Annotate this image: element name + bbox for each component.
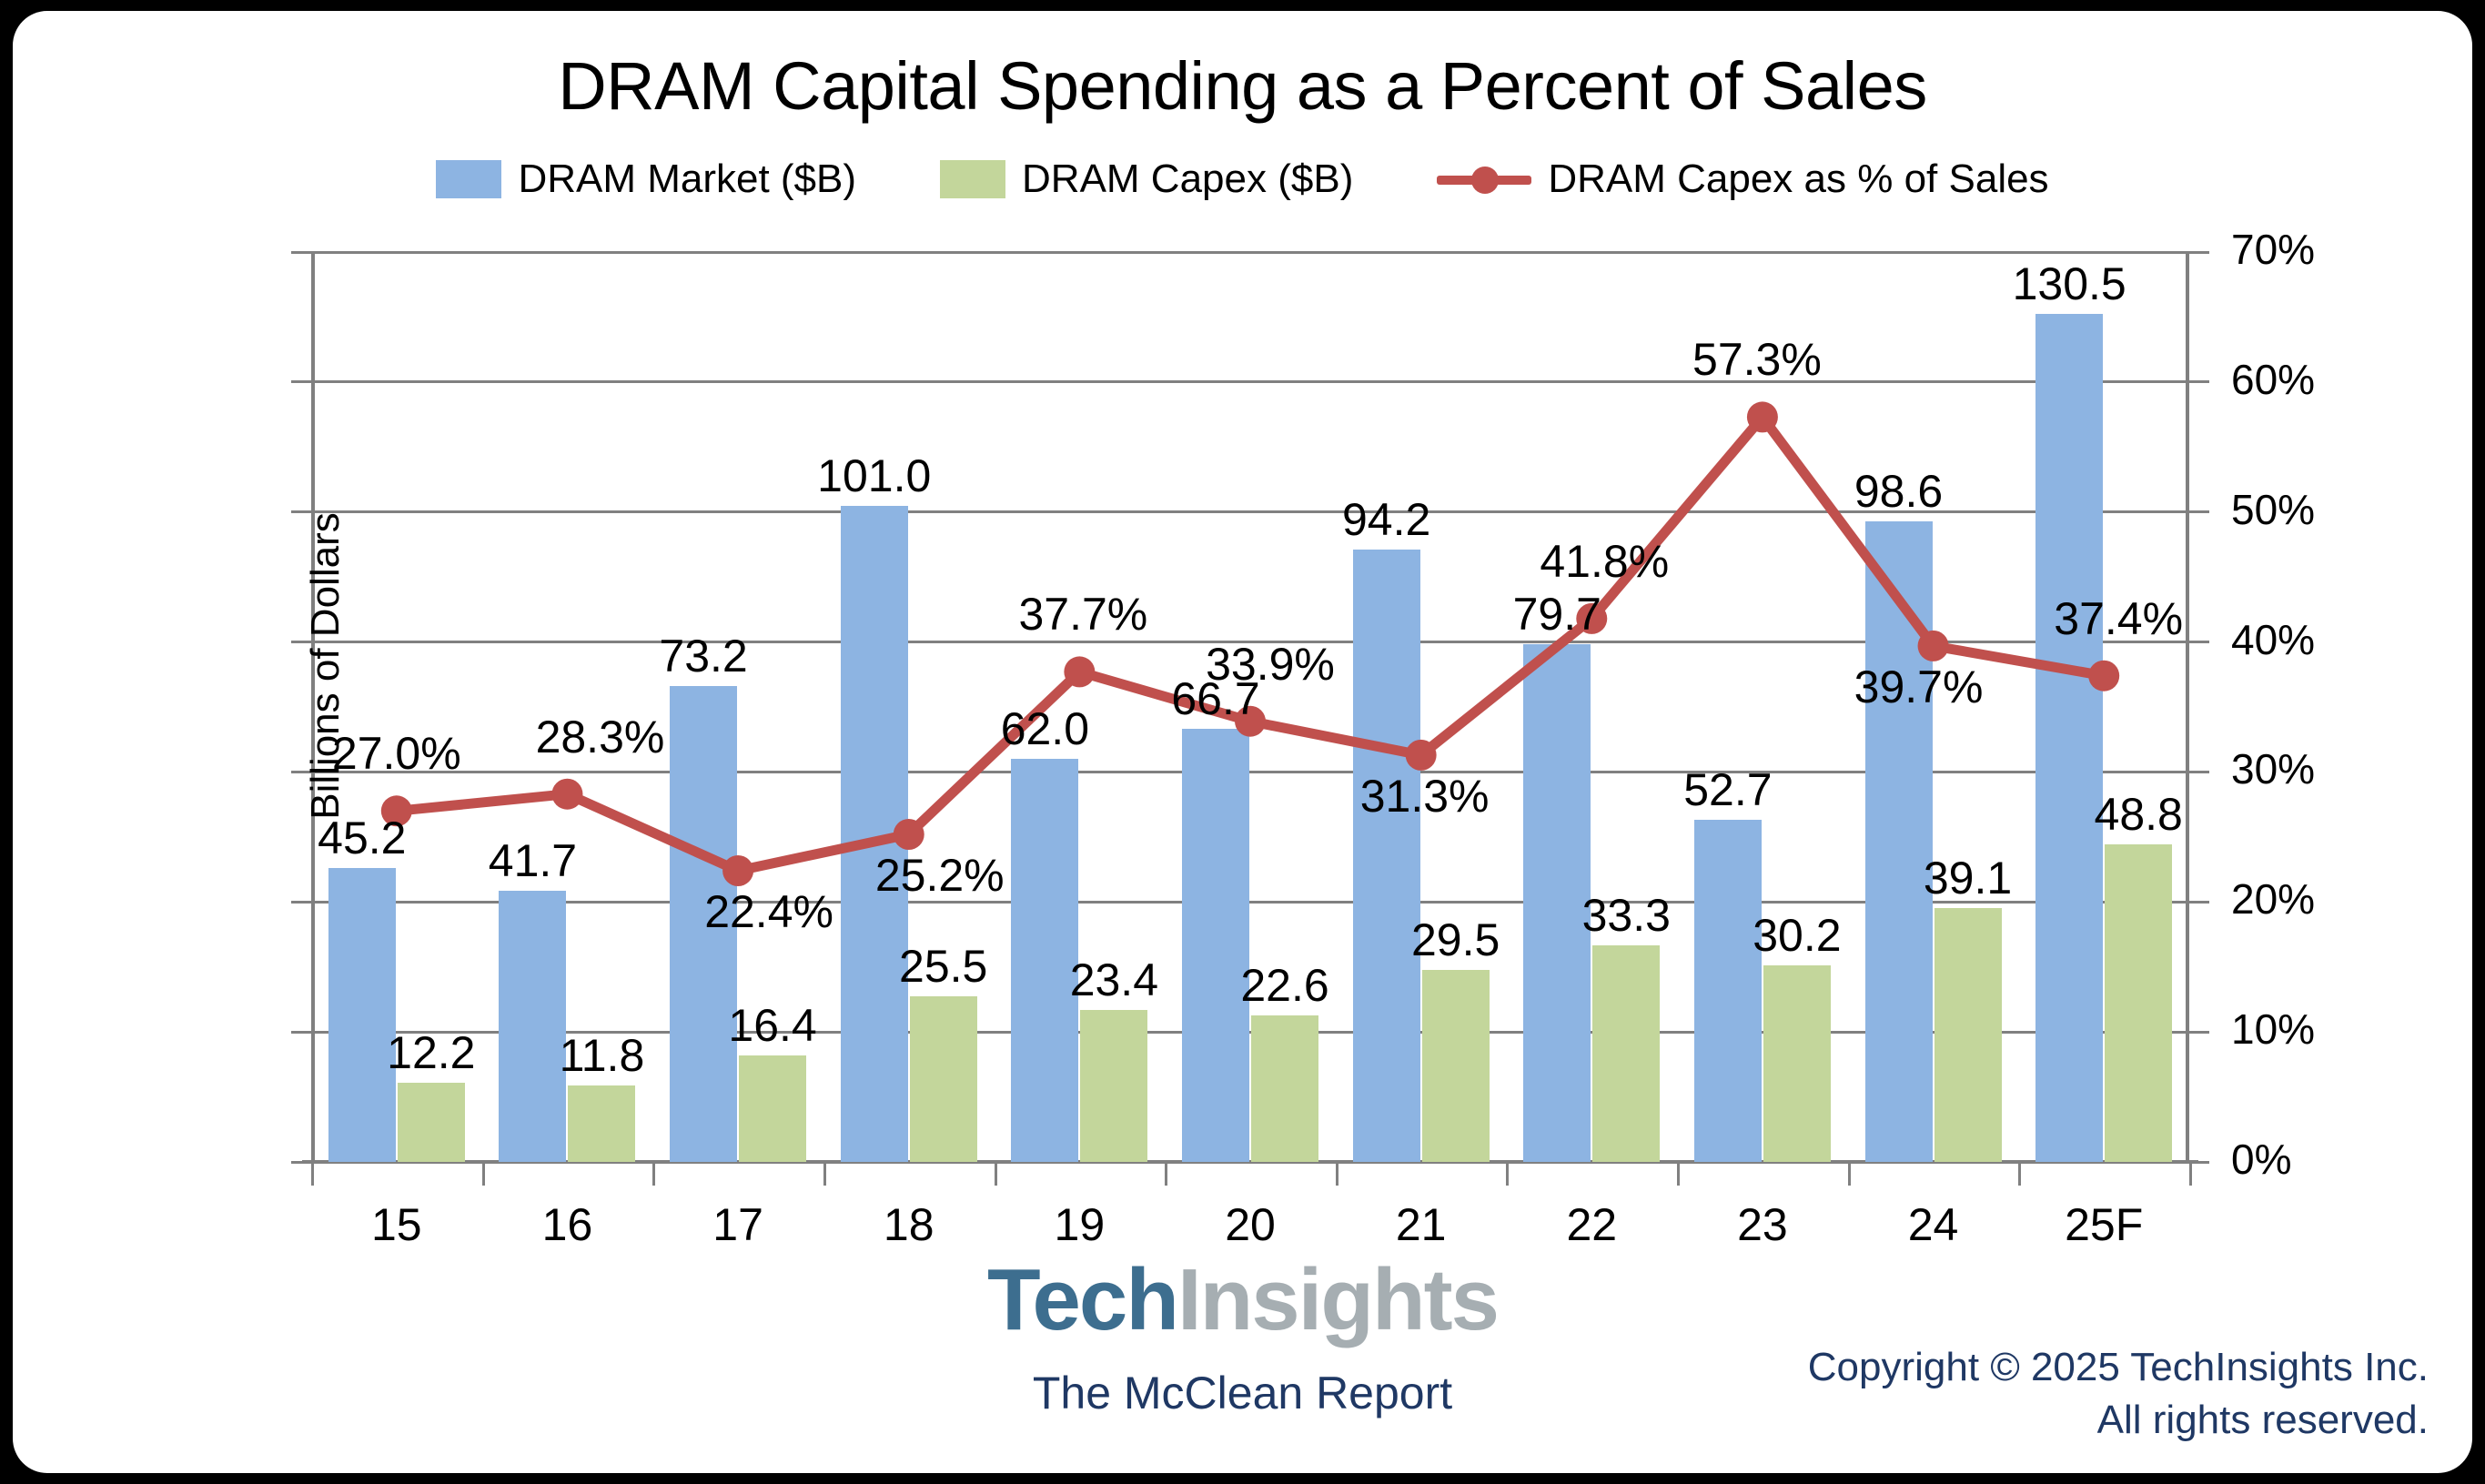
- legend-dram-market-label: DRAM Market ($B): [518, 156, 856, 202]
- x-axis-tick: [1848, 1162, 1851, 1186]
- legend-capex-pct[interactable]: DRAM Capex as % of Sales: [1437, 156, 2048, 202]
- x-axis-ticklabel: 20: [1225, 1198, 1276, 1251]
- right-axis-ticklabel: 30%: [2231, 744, 2450, 793]
- logo-tech: Tech: [987, 1251, 1177, 1348]
- chart-title: DRAM Capital Spending as a Percent of Sa…: [13, 47, 2472, 125]
- data-label-capex-pct: 31.3%: [1360, 770, 1490, 823]
- left-axis-title: Billions of Dollars: [303, 457, 349, 875]
- left-axis-ticklabel: $140: [0, 225, 1, 274]
- x-axis-ticklabel: 25F: [2065, 1198, 2143, 1251]
- x-axis-ticklabel: 22: [1566, 1198, 1617, 1251]
- data-label-capex-pct: 37.4%: [2054, 592, 2183, 645]
- left-axis-tick: [291, 1031, 311, 1034]
- screenshot-frame: DRAM Capital Spending as a Percent of Sa…: [0, 0, 2485, 1484]
- techinsights-logo: TechInsights: [13, 1250, 2472, 1350]
- data-label-dram-market: 94.2: [1342, 493, 1430, 546]
- data-label-dram-market: 101.0: [817, 449, 931, 502]
- left-axis-tick: [291, 1161, 311, 1164]
- left-axis-tick: [291, 380, 311, 383]
- data-label-dram-capex: 11.8: [560, 1029, 645, 1082]
- right-axis-ticklabel: 10%: [2231, 1004, 2450, 1054]
- data-label-capex-pct: 57.3%: [1692, 333, 1822, 386]
- right-axis-ticklabel: 50%: [2231, 485, 2450, 534]
- data-label-capex-pct: 28.3%: [536, 711, 665, 763]
- x-axis-tick: [652, 1162, 655, 1186]
- x-axis-tick: [995, 1162, 997, 1186]
- chart-card: DRAM Capital Spending as a Percent of Sa…: [13, 11, 2472, 1473]
- x-axis-ticklabel: 21: [1396, 1198, 1447, 1251]
- data-label-dram-market: 98.6: [1854, 465, 1943, 518]
- right-axis-tick: [2189, 380, 2209, 383]
- data-label-capex-pct: 27.0%: [332, 727, 461, 780]
- x-axis-tick: [482, 1162, 485, 1186]
- data-label-dram-capex: 48.8: [2095, 788, 2183, 841]
- copyright-line-2: All rights reserved.: [1519, 1394, 2429, 1447]
- x-axis-tick: [1506, 1162, 1509, 1186]
- data-label-capex-pct: 33.9%: [1206, 638, 1335, 691]
- right-axis-tick: [2189, 510, 2209, 513]
- left-axis-ticklabel: $120: [0, 355, 1, 404]
- copyright-line-1: Copyright © 2025 TechInsights Inc.: [1519, 1341, 2429, 1394]
- data-label-dram-capex: 12.2: [387, 1026, 475, 1079]
- x-axis-tick: [1165, 1162, 1167, 1186]
- data-label-capex-pct: 39.7%: [1854, 661, 1984, 713]
- data-label-capex-pct: 37.7%: [1018, 588, 1147, 641]
- data-label-dram-market: 79.7: [1513, 588, 1601, 641]
- right-axis-tick: [2189, 641, 2209, 643]
- right-axis-ticklabel: 60%: [2231, 355, 2450, 404]
- data-label-dram-capex: 25.5: [899, 940, 987, 993]
- data-label-dram-market: 52.7: [1683, 763, 1772, 816]
- left-axis-ticklabel: $80: [0, 615, 1, 664]
- line-marker-capex-pct: [2088, 661, 2119, 692]
- data-label-dram-capex: 16.4: [728, 999, 816, 1052]
- legend-line-dot: [1471, 167, 1499, 194]
- data-label-capex-pct: 41.8%: [1540, 535, 1669, 588]
- right-axis-ticklabel: 0%: [2231, 1135, 2450, 1184]
- data-label-dram-market: 73.2: [659, 630, 747, 682]
- x-axis-tick: [1336, 1162, 1338, 1186]
- line-marker-capex-pct: [894, 819, 924, 850]
- left-axis-ticklabel: $0: [0, 1135, 1, 1184]
- right-axis-ticklabel: 40%: [2231, 615, 2450, 664]
- line-marker-capex-pct: [1747, 401, 1778, 432]
- data-label-dram-market: 62.0: [1001, 702, 1089, 755]
- x-axis-ticklabel: 16: [542, 1198, 593, 1251]
- x-axis-tick: [311, 1162, 314, 1186]
- plot-area: $0$20$40$60$80$100$120$140 0%10%20%30%40…: [311, 252, 2189, 1162]
- right-axis-ticklabel: 70%: [2231, 225, 2450, 274]
- x-axis-ticklabel: 15: [371, 1198, 422, 1251]
- legend-capex-pct-line-marker: [1437, 164, 1531, 195]
- copyright-notice: Copyright © 2025 TechInsights Inc. All r…: [1519, 1341, 2429, 1447]
- right-axis-ticklabel: 20%: [2231, 874, 2450, 924]
- line-marker-capex-pct: [1918, 631, 1949, 661]
- legend-dram-capex-swatch: [940, 160, 1005, 198]
- data-label-capex-pct: 25.2%: [875, 849, 1005, 902]
- legend-dram-capex[interactable]: DRAM Capex ($B): [940, 156, 1353, 202]
- legend-dram-capex-label: DRAM Capex ($B): [1022, 156, 1353, 202]
- x-axis-tick: [1677, 1162, 1680, 1186]
- x-axis-tick: [2189, 1162, 2192, 1186]
- left-axis-ticklabel: $60: [0, 744, 1, 793]
- data-label-capex-pct: 22.4%: [704, 885, 833, 938]
- x-axis-tick: [2018, 1162, 2021, 1186]
- data-label-dram-capex: 22.6: [1240, 959, 1328, 1012]
- legend-dram-market[interactable]: DRAM Market ($B): [436, 156, 856, 202]
- right-axis-tick: [2189, 1161, 2209, 1164]
- line-marker-capex-pct: [551, 779, 582, 810]
- x-axis-ticklabel: 24: [1908, 1198, 1959, 1251]
- right-axis-tick: [2189, 771, 2209, 773]
- right-axis-tick: [2189, 1031, 2209, 1034]
- chart-legend: DRAM Market ($B)DRAM Capex ($B)DRAM Cape…: [13, 156, 2472, 202]
- left-axis-ticklabel: $100: [0, 485, 1, 534]
- x-axis-ticklabel: 17: [712, 1198, 763, 1251]
- x-axis-ticklabel: 18: [884, 1198, 934, 1251]
- logo-insights: Insights: [1177, 1251, 1498, 1348]
- line-marker-capex-pct: [722, 855, 753, 886]
- x-axis-ticklabel: 23: [1737, 1198, 1788, 1251]
- data-label-dram-capex: 23.4: [1070, 954, 1158, 1006]
- data-label-dram-capex: 30.2: [1753, 909, 1841, 962]
- data-label-dram-capex: 29.5: [1411, 914, 1500, 966]
- line-marker-capex-pct: [1406, 740, 1437, 771]
- data-label-dram-market: 41.7: [489, 834, 577, 887]
- data-label-dram-capex: 39.1: [1924, 852, 2012, 904]
- legend-capex-pct-label: DRAM Capex as % of Sales: [1548, 156, 2048, 202]
- data-label-dram-capex: 33.3: [1582, 889, 1671, 942]
- x-axis-tick: [823, 1162, 826, 1186]
- data-label-dram-market: 130.5: [2013, 257, 2126, 310]
- line-marker-capex-pct: [1064, 656, 1095, 687]
- x-axis-ticklabel: 19: [1055, 1198, 1106, 1251]
- left-axis-tick: [291, 251, 311, 254]
- legend-dram-market-swatch: [436, 160, 501, 198]
- left-axis-ticklabel: $20: [0, 1004, 1, 1054]
- left-axis-ticklabel: $40: [0, 874, 1, 924]
- left-axis-tick: [291, 901, 311, 904]
- right-axis-tick: [2189, 251, 2209, 254]
- right-axis-tick: [2189, 901, 2209, 904]
